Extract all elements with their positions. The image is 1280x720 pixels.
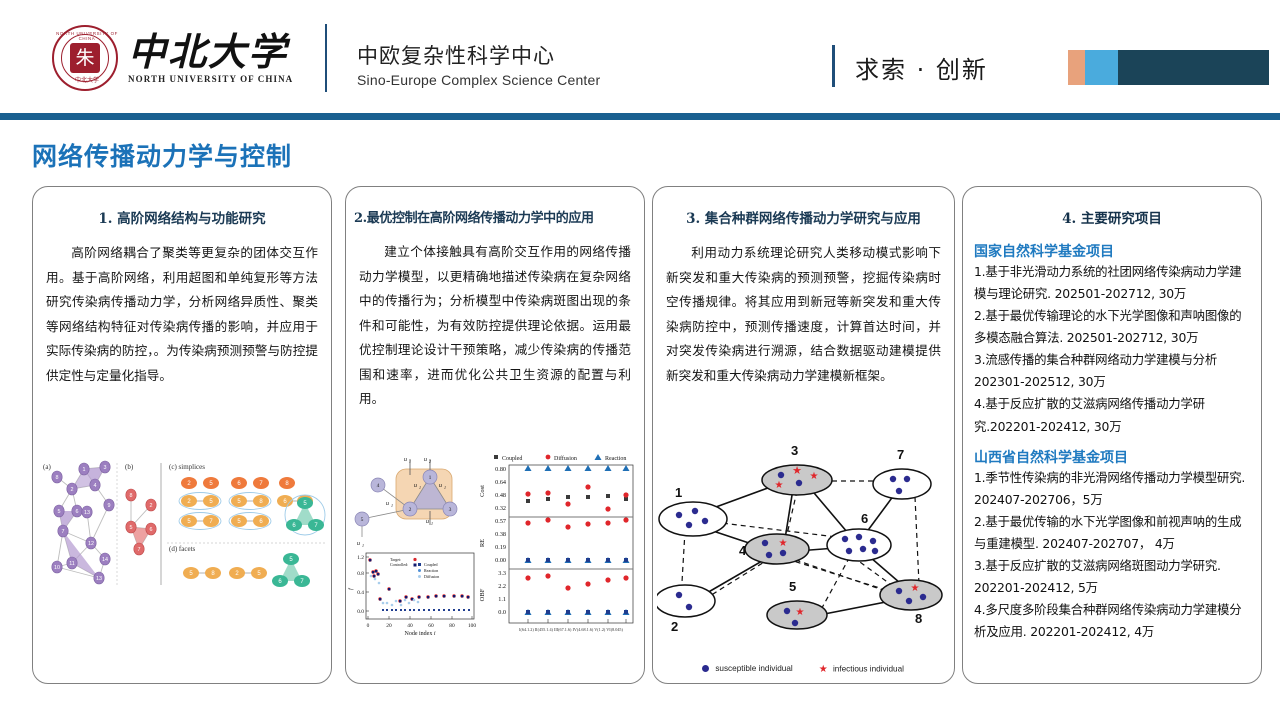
figure-metapopulation-network: ★ ★ ★ ★ ★	[657, 439, 949, 644]
project-item: 2.基于最优传输理论的水下光学图像和声呐图像的多模态融合算法. 202501-2…	[971, 305, 1253, 349]
svg-text:★: ★	[775, 480, 784, 491]
project-item: 4.基于反应扩散的艾滋病网络传播动力学研究.202201-202412, 30万	[971, 393, 1253, 437]
svg-text:1: 1	[83, 467, 86, 473]
svg-text:3: 3	[449, 507, 452, 513]
group-heading-national: 国家自然科学基金项目	[971, 241, 1253, 261]
svg-text:1: 1	[429, 475, 432, 481]
panel-2-body: 建立个体接触具有高阶交互作用的网络传播动力学模型，以更精确地描述传染病在复杂网络…	[354, 240, 636, 412]
svg-text:1: 1	[419, 485, 421, 490]
svg-text:8: 8	[130, 493, 133, 499]
svg-text:4: 4	[377, 483, 380, 489]
svg-text:0.48: 0.48	[495, 492, 506, 499]
center-name-en: Sino-Europe Complex Science Center	[357, 72, 600, 88]
figure-simplicial-complex: (a) (b) (c) simplices (d) facets	[39, 455, 329, 640]
svg-text:3: 3	[791, 443, 798, 458]
project-item: 1.季节性传染病的非光滑网络传播动力学模型研究. 202407-202706，5…	[971, 467, 1253, 511]
svg-text:0.0: 0.0	[498, 609, 506, 616]
svg-text:13: 13	[84, 510, 90, 516]
swatch-orange	[1068, 50, 1085, 85]
seal-center-glyph	[70, 43, 100, 73]
svg-text:★: ★	[796, 607, 805, 618]
susceptible-dot-icon	[702, 665, 709, 672]
slide-page: NORTH UNIVERSITY OF CHINA 中北大学 中北大学 NORT…	[0, 0, 1280, 720]
svg-text:u: u	[439, 483, 442, 489]
svg-text:11: 11	[69, 561, 75, 567]
header-rule	[0, 113, 1280, 120]
project-item: 2.基于最优传输的水下光学图像和前视声呐的生成与重建模型. 202407-202…	[971, 511, 1253, 555]
svg-text:1: 1	[362, 543, 364, 548]
svg-text:1: 1	[675, 485, 682, 500]
svg-text:Controlled:: Controlled:	[390, 562, 408, 567]
svg-text:14: 14	[102, 557, 108, 563]
svg-text:3.3: 3.3	[498, 570, 506, 577]
panel-3-body: 利用动力系统理论研究人类移动模式影响下新突发和重大传染病的预测预警，挖掘传染病时…	[661, 241, 946, 388]
svg-text:Coupled: Coupled	[424, 562, 438, 567]
figure-control-schematic-and-scatter: 123 45 u1 u2 u1 u1 u1 u1 u1 1	[348, 453, 488, 643]
svg-text:Reaction: Reaction	[424, 568, 438, 573]
svg-text:0.19: 0.19	[495, 544, 506, 551]
svg-text:8: 8	[915, 611, 922, 626]
svg-text:2: 2	[150, 503, 153, 509]
university-name-en: NORTH UNIVERSITY OF CHINA	[128, 74, 293, 84]
project-item: 3.基于反应扩散的艾滋病网络斑图动力学研究. 202201-202412, 5万	[971, 555, 1253, 599]
svg-text:1: 1	[409, 459, 411, 464]
university-logo: NORTH UNIVERSITY OF CHINA 中北大学 中北大学 NORT…	[52, 25, 293, 91]
svg-text:0.00: 0.00	[495, 557, 506, 564]
svg-text:★: ★	[810, 471, 819, 482]
svg-text:Coupled: Coupled	[502, 456, 522, 462]
svg-text:0.38: 0.38	[495, 531, 506, 538]
svg-text:0: 0	[367, 623, 370, 629]
svg-text:u: u	[414, 483, 417, 489]
svg-text:RE: RE	[479, 539, 486, 547]
svg-text:★: ★	[911, 583, 920, 594]
project-item: 4.多尺度多阶段集合种群网络传染病动力学建模分析及应用. 202201-2024…	[971, 599, 1253, 643]
svg-text:12: 12	[88, 541, 94, 547]
svg-text:6: 6	[861, 511, 868, 526]
legend-metapopulation: susceptible individual ★ infectious indi…	[663, 664, 943, 675]
svg-text:1: 1	[391, 503, 393, 508]
svg-text:8: 8	[56, 475, 59, 481]
svg-text:OBF: OBF	[479, 588, 486, 601]
slide-header: NORTH UNIVERSITY OF CHINA 中北大学 中北大学 NORT…	[0, 0, 1280, 113]
header-divider-right	[832, 45, 835, 87]
panel-1-title: 1. 高阶网络结构与功能研究	[41, 207, 323, 227]
svg-text:5: 5	[58, 509, 61, 515]
legend-label-susceptible: susceptible individual	[715, 664, 792, 673]
svg-text:40: 40	[407, 623, 413, 629]
svg-text:5: 5	[130, 525, 133, 531]
seal-bottom-text: 中北大学	[54, 75, 120, 84]
svg-text:2: 2	[71, 487, 74, 493]
svg-text:4: 4	[94, 483, 97, 489]
panel-1-body: 高阶网络耦合了聚类等更复杂的团体交互作用。基于高阶网络，利用超图和单纯复形等方法…	[41, 241, 323, 388]
group-heading-shanxi: 山西省自然科学基金项目	[971, 447, 1253, 467]
svg-text:★: ★	[779, 538, 788, 549]
panel-research-projects: 4. 主要研究项目 国家自然科学基金项目 1.基于非光滑动力系统的社团网络传染病…	[962, 186, 1262, 684]
panel-optimal-control: 2.最优控制在高阶网络传播动力学中的应用 建立个体接触具有高阶交互作用的网络传播…	[345, 186, 645, 684]
panel-4-title: 4. 主要研究项目	[971, 207, 1253, 227]
center-name-cn: 中欧复杂性科学中心	[357, 40, 555, 70]
svg-text:I(64.1.2) II(455.1.4) III(67.: I(64.1.2) II(455.1.4) III(67.1.6) IV(4.6…	[519, 627, 623, 632]
university-seal-icon: NORTH UNIVERSITY OF CHINA 中北大学	[52, 25, 118, 91]
svg-text:(b): (b)	[125, 463, 134, 471]
svg-text:(c) simplices: (c) simplices	[169, 463, 205, 471]
svg-text:2: 2	[429, 459, 431, 464]
svg-text:(a): (a)	[43, 463, 51, 471]
svg-text:60: 60	[428, 623, 434, 629]
svg-text:Reaction: Reaction	[605, 456, 626, 462]
svg-text:1.1: 1.1	[498, 596, 506, 603]
svg-text:2: 2	[409, 507, 412, 513]
svg-text:7: 7	[138, 547, 141, 553]
svg-text:u: u	[426, 519, 429, 525]
panel-higher-order-structure: 1. 高阶网络结构与功能研究 高阶网络耦合了聚类等更复杂的团体交互作用。基于高阶…	[32, 186, 332, 684]
svg-text:13: 13	[96, 576, 102, 582]
infectious-star-icon: ★	[819, 664, 828, 675]
project-item: 1.基于非光滑动力系统的社团网络传染病动力学建模与理论研究. 202501-20…	[971, 261, 1253, 305]
university-name-cn: 中北大学	[128, 33, 293, 71]
seal-top-text: NORTH UNIVERSITY OF CHINA	[54, 31, 120, 41]
svg-text:6: 6	[76, 509, 79, 515]
svg-text:1: 1	[444, 485, 446, 490]
svg-text:0.80: 0.80	[495, 466, 506, 473]
project-item: 3.流感传播的集合种群网络动力学建模与分析 202301-202512, 30万	[971, 349, 1253, 393]
svg-text:5: 5	[789, 579, 796, 594]
svg-text:80: 80	[449, 623, 455, 629]
svg-text:★: ★	[792, 465, 802, 477]
svg-text:u: u	[404, 457, 407, 463]
svg-text:0.8: 0.8	[357, 571, 364, 577]
header-divider-left	[325, 24, 327, 92]
legend-item-infectious: ★ infectious individual	[819, 664, 904, 675]
svg-text:9: 9	[108, 503, 111, 509]
svg-text:(d) facets: (d) facets	[169, 545, 196, 553]
svg-text:1.2: 1.2	[357, 555, 364, 561]
svg-text:u: u	[424, 457, 427, 463]
svg-text:0.57: 0.57	[495, 518, 506, 525]
svg-text:0.64: 0.64	[495, 479, 506, 486]
project-group-shanxi: 山西省自然科学基金项目 1.季节性传染病的非光滑网络传播动力学模型研究. 202…	[971, 447, 1253, 644]
legend-item-susceptible: susceptible individual	[702, 664, 793, 675]
svg-text:5: 5	[361, 517, 364, 523]
svg-text:4: 4	[739, 543, 747, 558]
panel-metapopulation: 3. 集合种群网络传播动力学研究与应用 利用动力系统理论研究人类移动模式影响下新…	[652, 186, 955, 684]
panel-2-title: 2.最优控制在高阶网络传播动力学中的应用	[354, 207, 636, 226]
svg-text:Node index i: Node index i	[405, 631, 436, 637]
svg-text:7: 7	[62, 529, 65, 535]
legend-label-infectious: infectious individual	[833, 665, 904, 674]
svg-text:u: u	[386, 501, 389, 507]
svg-text:6: 6	[150, 527, 153, 533]
svg-text:u: u	[357, 541, 360, 547]
svg-text:20: 20	[386, 623, 392, 629]
swatch-darkblue	[1118, 50, 1269, 85]
svg-text:0.32: 0.32	[495, 505, 506, 512]
figure-cost-re-obf: Coupled Diffusion Reaction 0.800.64 0.48…	[476, 451, 639, 643]
header-motto: 求索 · 创新	[855, 50, 988, 85]
university-name-block: 中北大学 NORTH UNIVERSITY OF CHINA	[128, 33, 293, 84]
svg-text:2: 2	[671, 619, 678, 634]
svg-text:Diffusion: Diffusion	[424, 574, 439, 579]
panel-3-title: 3. 集合种群网络传播动力学研究与应用	[661, 207, 946, 227]
svg-text:1: 1	[431, 521, 433, 526]
page-title: 网络传播动力学与控制	[32, 137, 292, 173]
svg-text:0.0: 0.0	[357, 609, 364, 615]
swatch-lightblue	[1085, 50, 1118, 85]
header-color-swatches	[1068, 50, 1269, 85]
svg-text:Diffusion: Diffusion	[554, 455, 577, 462]
svg-text:10: 10	[54, 565, 60, 571]
svg-text:7: 7	[897, 447, 904, 462]
svg-text:Cost: Cost	[479, 485, 486, 497]
svg-text:3: 3	[104, 465, 107, 471]
svg-text:2.2: 2.2	[498, 583, 506, 590]
svg-text:0.4: 0.4	[357, 590, 364, 596]
svg-text:f: f	[348, 587, 354, 590]
project-group-national: 国家自然科学基金项目 1.基于非光滑动力系统的社团网络传染病动力学建模与理论研究…	[971, 241, 1253, 438]
